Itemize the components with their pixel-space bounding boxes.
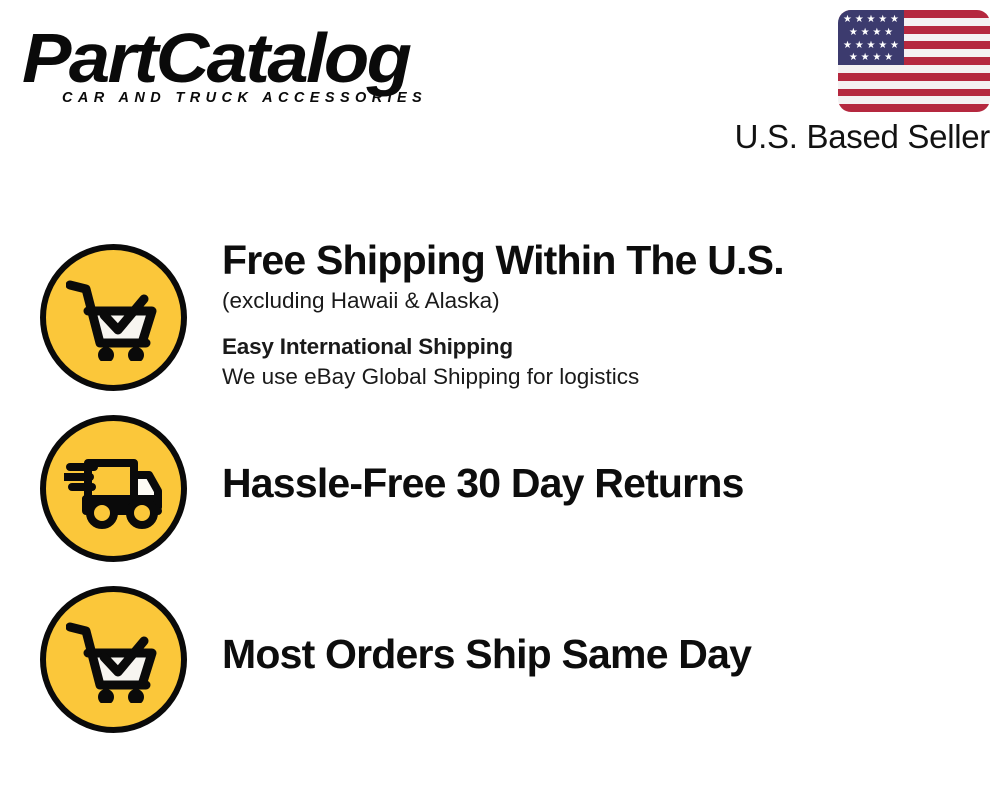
feature-subtext-international: Easy International Shipping: [222, 332, 982, 362]
header-bar: PartCatalog CAR AND TRUCK ACCESSORIES ★ …: [0, 0, 1000, 175]
feature-row-same-day-ship: Most Orders Ship Same Day: [0, 574, 1000, 745]
brand-wordmark: PartCatalog: [22, 22, 520, 94]
feature-text-block: Free Shipping Within The U.S. (excluding…: [222, 236, 982, 392]
feature-list: Free Shipping Within The U.S. (excluding…: [0, 232, 1000, 745]
shopping-cart-check-icon: [40, 586, 187, 733]
feature-heading: Most Orders Ship Same Day: [222, 630, 982, 678]
feature-subtext-logistics: We use eBay Global Shipping for logistic…: [222, 362, 982, 392]
feature-row-returns: Hassle-Free 30 Day Returns: [0, 403, 1000, 574]
feature-text-block: Most Orders Ship Same Day: [222, 630, 982, 678]
delivery-truck-icon: [40, 415, 187, 562]
feature-row-free-shipping: Free Shipping Within The U.S. (excluding…: [0, 232, 1000, 403]
shopping-cart-check-icon: [40, 244, 187, 391]
flag-star-row: ★ ★ ★ ★ ★: [838, 15, 904, 25]
feature-subtext-exclusions: (excluding Hawaii & Alaska): [222, 286, 982, 316]
flag-star-row: ★ ★ ★ ★ ★: [838, 41, 904, 51]
us-flag-icon: ★ ★ ★ ★ ★ ★ ★ ★ ★ ★ ★ ★ ★ ★ ★ ★ ★ ★: [838, 10, 990, 112]
feature-heading: Free Shipping Within The U.S.: [222, 236, 982, 284]
feature-heading: Hassle-Free 30 Day Returns: [222, 459, 982, 507]
brand-logo: PartCatalog CAR AND TRUCK ACCESSORIES: [22, 22, 492, 106]
feature-text-block: Hassle-Free 30 Day Returns: [222, 459, 982, 507]
flag-star-row: ★ ★ ★ ★: [838, 53, 904, 63]
flag-star-row: ★ ★ ★ ★: [838, 28, 904, 38]
flag-canton: ★ ★ ★ ★ ★ ★ ★ ★ ★ ★ ★ ★ ★ ★ ★ ★ ★ ★: [838, 10, 904, 65]
us-based-seller-label: U.S. Based Seller: [722, 118, 990, 156]
